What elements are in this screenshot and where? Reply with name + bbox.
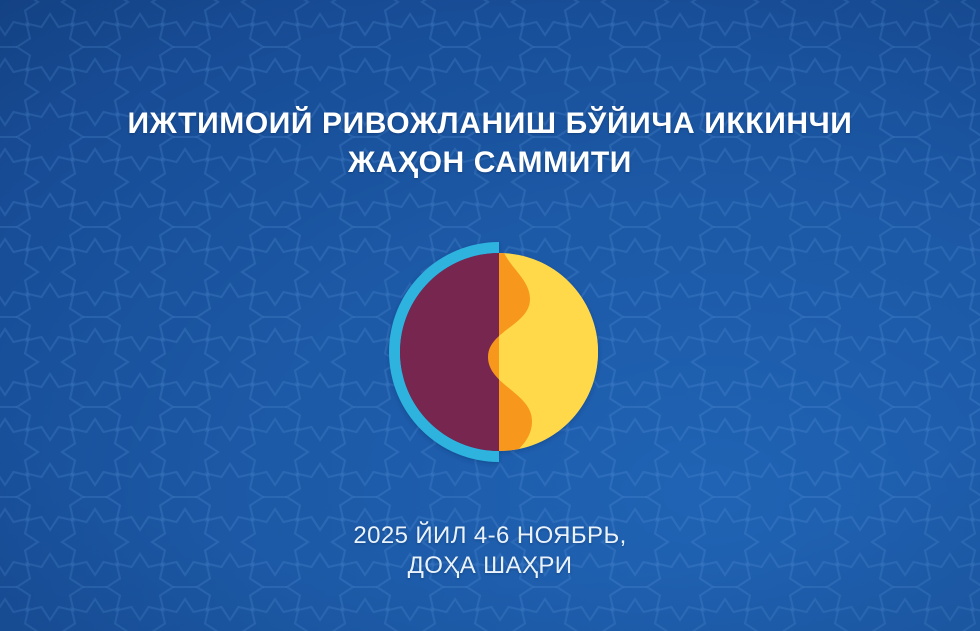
footer-line-city: ДОҲА ШАҲРИ: [0, 551, 980, 581]
footer-line-date: 2025 ЙИЛ 4-6 НОЯБРЬ,: [0, 521, 980, 551]
page-title: ИЖТИМОИЙ РИВОЖЛАНИШ БЎЙИЧА ИККИНЧИ ЖАҲОН…: [0, 104, 980, 182]
title-line-2: ЖАҲОН САММИТИ: [0, 143, 980, 182]
summit-logo: [380, 233, 610, 471]
event-date-location: 2025 ЙИЛ 4-6 НОЯБРЬ, ДОҲА ШАҲРИ: [0, 521, 980, 581]
summit-poster: ИЖТИМОИЙ РИВОЖЛАНИШ БЎЙИЧА ИККИНЧИ ЖАҲОН…: [0, 0, 980, 631]
title-line-1: ИЖТИМОИЙ РИВОЖЛАНИШ БЎЙИЧА ИККИНЧИ: [0, 104, 980, 143]
summit-logo-icon: [380, 233, 610, 471]
